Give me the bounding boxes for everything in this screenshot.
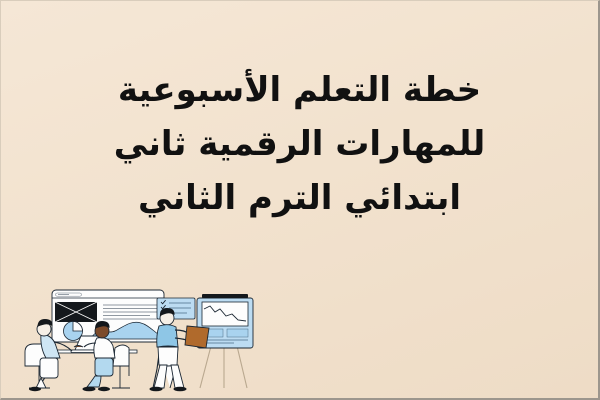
slide-canvas: خطة التعلم الأسبوعية للمهارات الرقمية ثا…: [0, 0, 600, 400]
title-line-1: خطة التعلم الأسبوعية: [1, 63, 598, 117]
page-title: خطة التعلم الأسبوعية للمهارات الرقمية ثا…: [1, 63, 598, 225]
pie-chart: [64, 322, 83, 341]
title-line-2: للمهارات الرقمية ثاني: [1, 117, 598, 171]
office-teamwork-illustration: [19, 276, 291, 396]
title-line-3: ابتدائي الترم الثاني: [1, 171, 598, 225]
video-placeholder-box: [55, 302, 97, 322]
